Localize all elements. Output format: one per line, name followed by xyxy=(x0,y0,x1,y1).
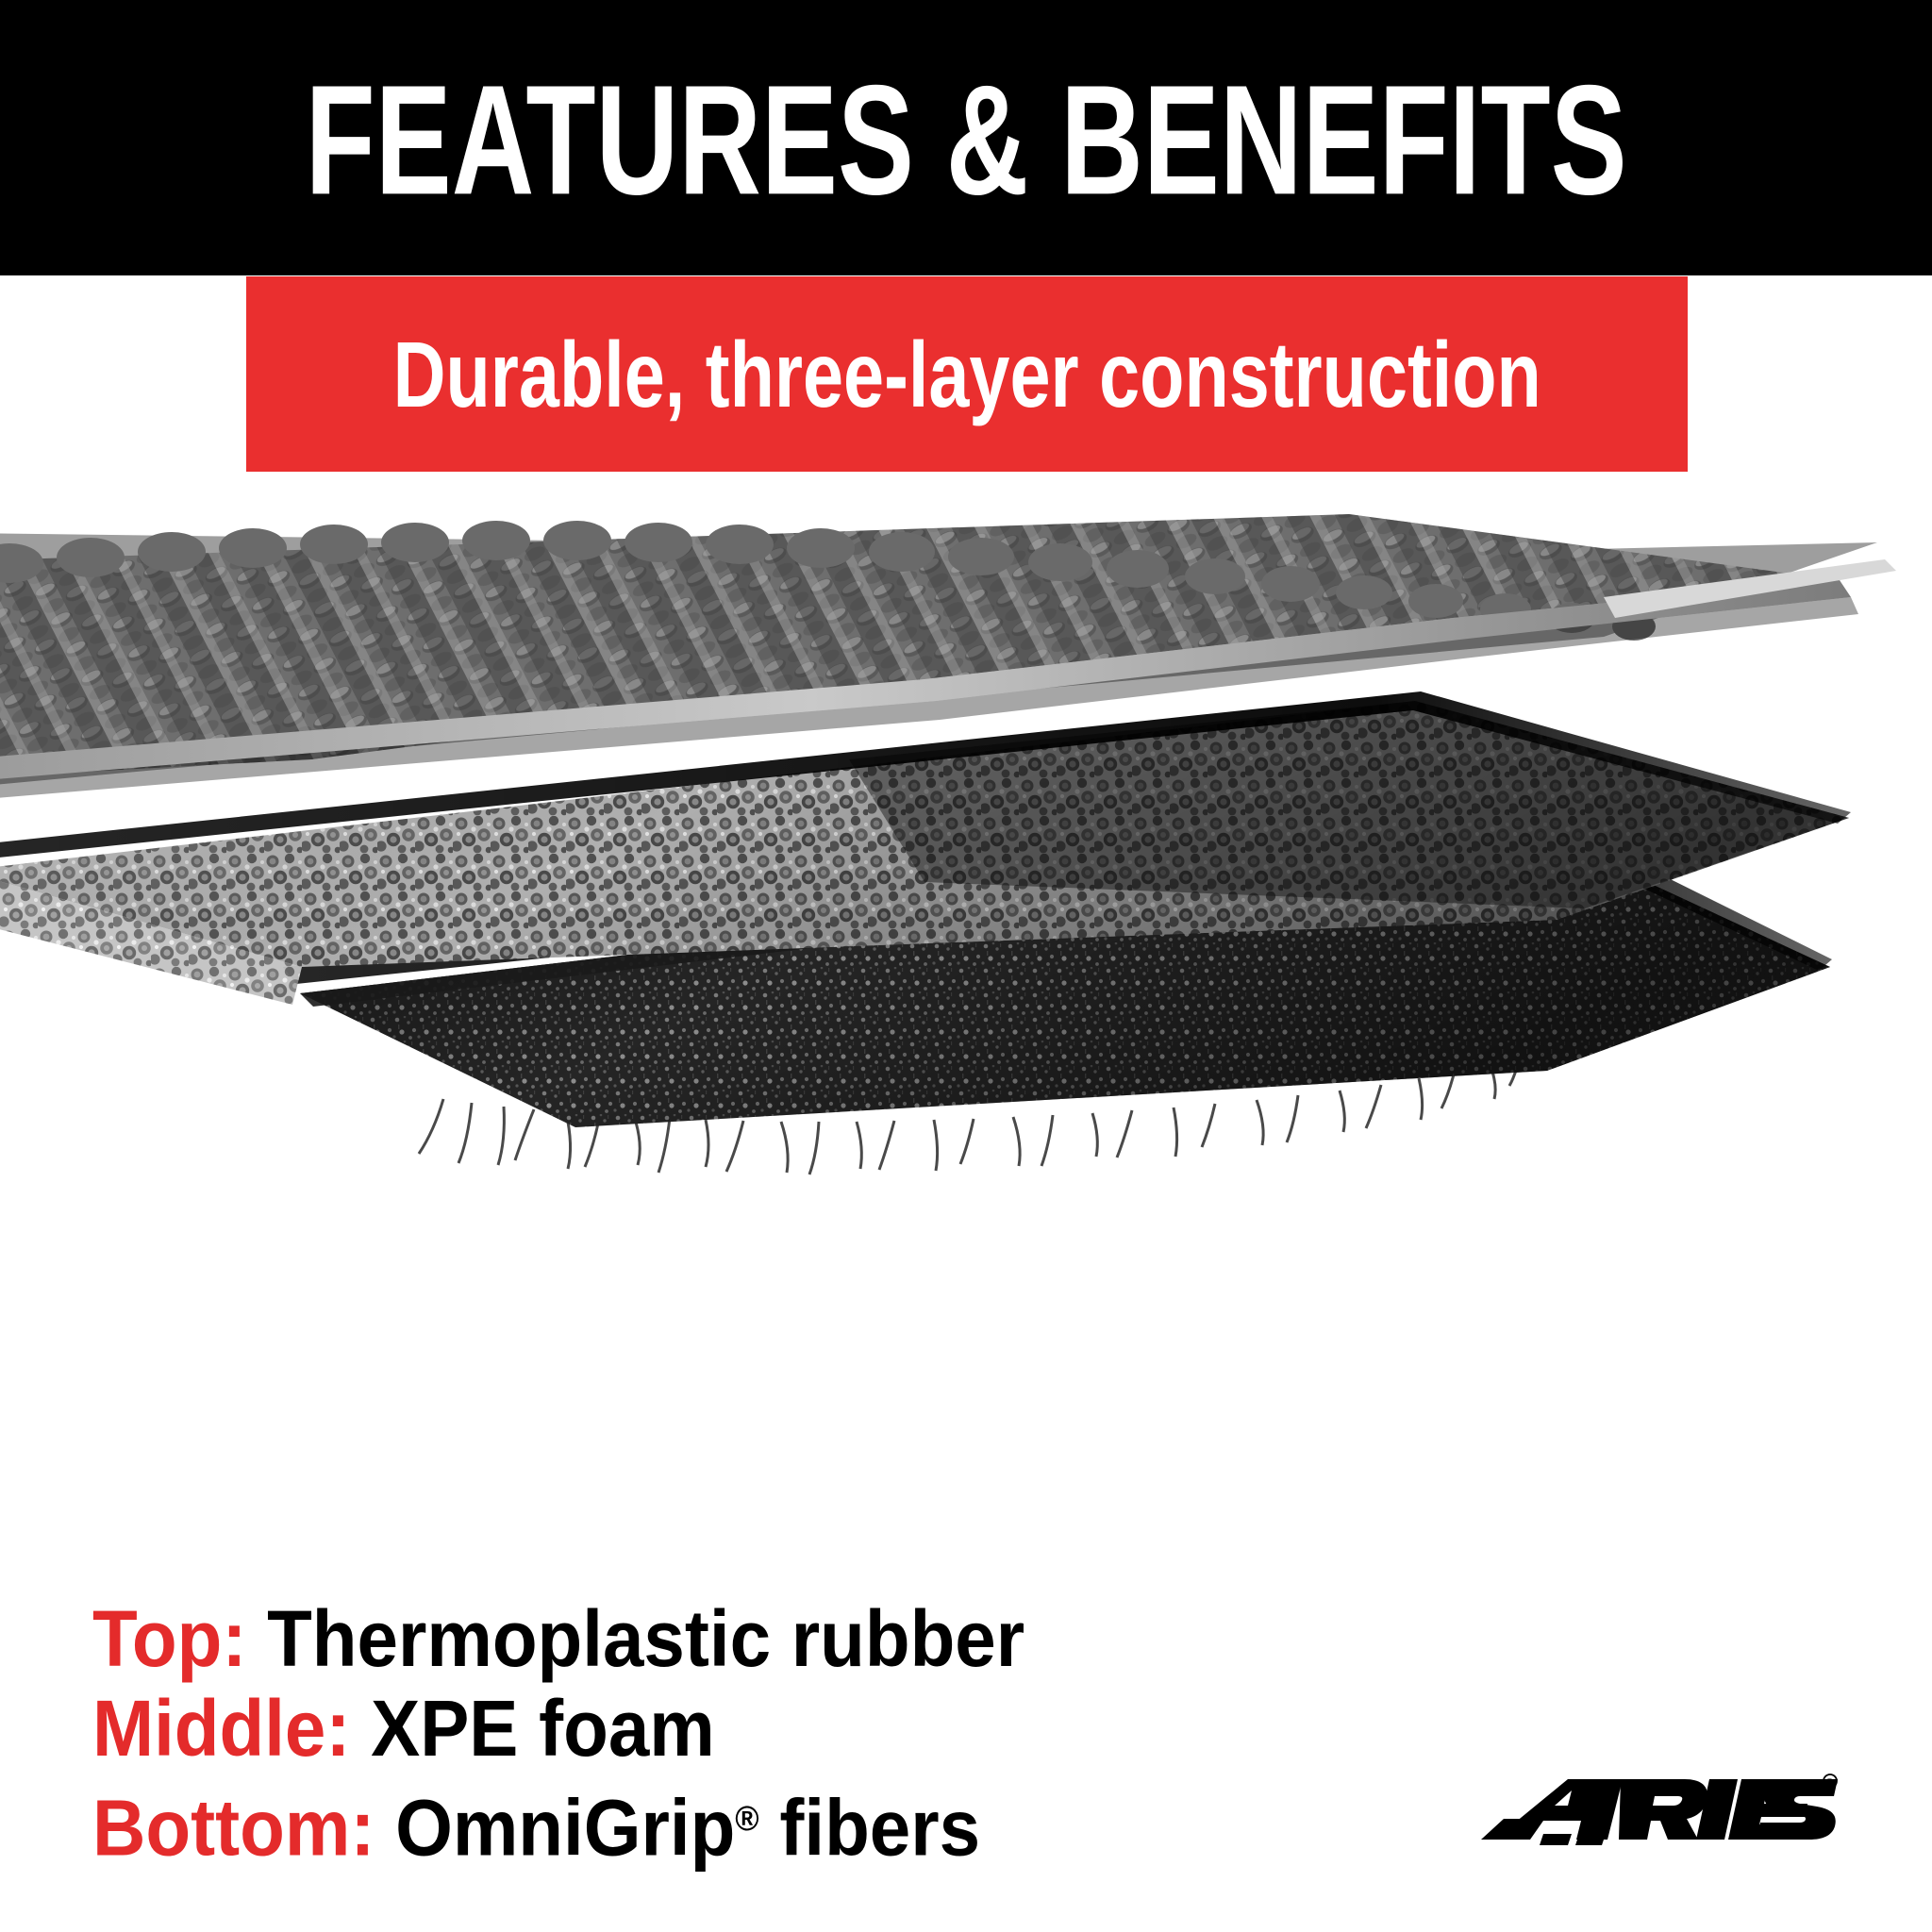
layer-legend: Top: Thermoplastic rubber Middle: XPE fo… xyxy=(92,1594,1319,1874)
legend-row-middle: Middle: XPE foam xyxy=(92,1684,1233,1774)
header-bar: FEATURES & BENEFITS xyxy=(0,0,1932,275)
legend-label-top: Top: xyxy=(92,1594,246,1683)
legend-label-bottom: Bottom: xyxy=(92,1784,375,1873)
legend-value-top: Thermoplastic rubber xyxy=(267,1594,1024,1683)
product-image xyxy=(0,476,1932,1561)
aries-wordmark-icon: R xyxy=(1481,1766,1841,1857)
registered-trademark-icon: ® xyxy=(735,1799,758,1838)
legend-row-top: Top: Thermoplastic rubber xyxy=(92,1594,1233,1684)
page-title: FEATURES & BENEFITS xyxy=(305,62,1626,219)
legend-value-middle: XPE foam xyxy=(371,1684,715,1773)
legend-value-bottom-suffix: fibers xyxy=(759,1784,980,1873)
legend-label-middle: Middle: xyxy=(92,1684,350,1773)
legend-value-bottom-brand: OmniGrip xyxy=(395,1784,735,1873)
svg-text:R: R xyxy=(1827,1777,1834,1787)
subtitle-banner: Durable, three-layer construction xyxy=(246,276,1688,472)
aries-logo: R xyxy=(1481,1766,1841,1857)
subtitle-text: Durable, three-layer construction xyxy=(392,328,1541,421)
three-layer-mat-illustration xyxy=(0,476,1932,1561)
legend-row-bottom: Bottom: OmniGrip® fibers xyxy=(92,1774,1233,1874)
